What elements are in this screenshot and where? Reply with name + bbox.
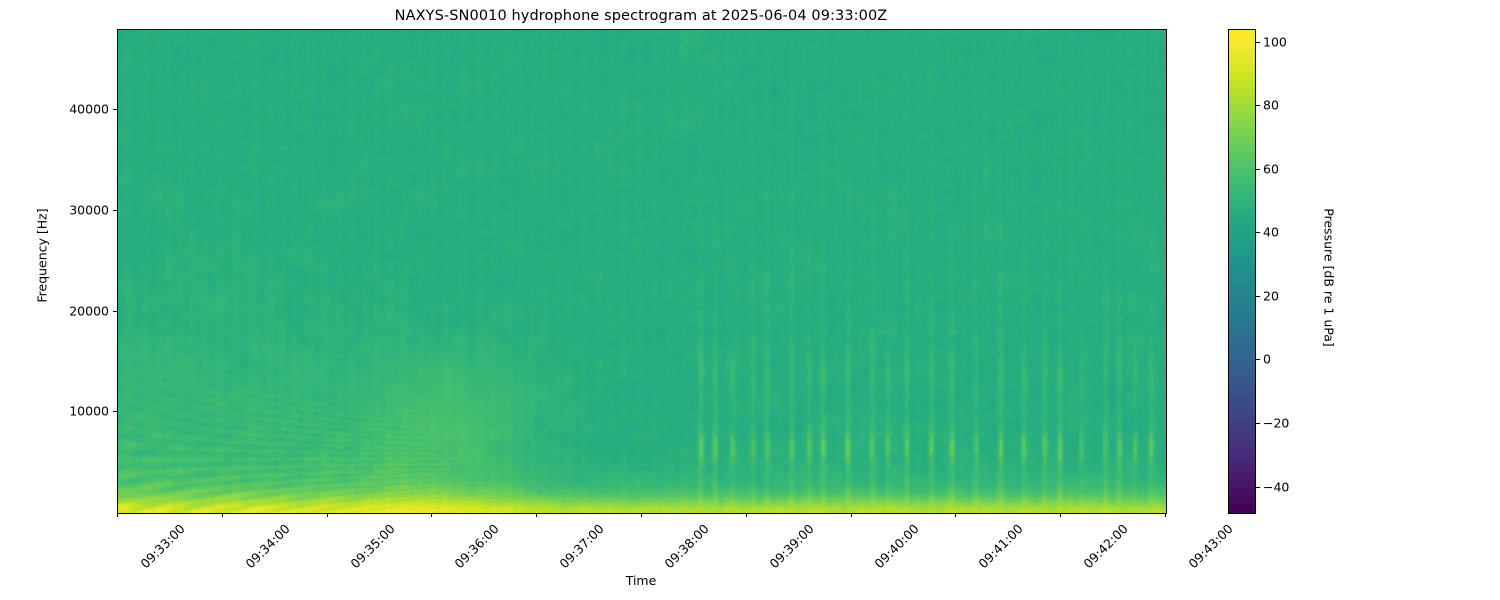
x-tick-label-10: 09:43:00 [1185,521,1235,571]
colorbar-tick-mark-0 [1256,487,1260,488]
x-tick-label-5: 09:38:00 [661,521,711,571]
figure-title: NAXYS-SN0010 hydrophone spectrogram at 2… [117,8,1165,24]
colorbar-label: Pressure [dB re 1 uPa] [1322,178,1337,378]
colorbar-tick-label-0: −40 [1263,480,1289,495]
colorbar-tick-label-3: 20 [1263,289,1279,304]
y-tick-mark-30000 [113,210,117,211]
x-tick-mark-1 [222,513,223,517]
x-tick-mark-0 [117,513,118,517]
x-tick-label-8: 09:41:00 [975,521,1025,571]
colorbar-tick-mark-7 [1256,42,1260,43]
x-tick-mark-6 [746,513,747,517]
x-tick-mark-2 [327,513,328,517]
x-tick-label-0: 09:33:00 [137,521,187,571]
x-tick-label-7: 09:40:00 [871,521,921,571]
colorbar-tick-mark-2 [1256,359,1260,360]
x-axis-label: Time [117,573,1165,588]
y-tick-label-20000: 20000 [69,304,109,319]
y-tick-label-40000: 40000 [69,102,109,117]
x-tick-mark-3 [431,513,432,517]
y-tick-mark-40000 [113,109,117,110]
colorbar-tick-label-1: −20 [1263,416,1289,431]
colorbar-tick-mark-3 [1256,296,1260,297]
y-tick-label-30000: 30000 [69,203,109,218]
colorbar-tick-label-2: 0 [1263,352,1271,367]
x-tick-mark-7 [851,513,852,517]
spectrogram-plot-area [117,29,1167,514]
x-tick-label-9: 09:42:00 [1080,521,1130,571]
y-tick-mark-10000 [113,411,117,412]
spectrogram-image [118,30,1166,513]
x-tick-mark-4 [536,513,537,517]
colorbar-gradient [1229,30,1255,513]
x-tick-label-1: 09:34:00 [242,521,292,571]
x-tick-label-2: 09:35:00 [347,521,397,571]
colorbar-tick-label-5: 60 [1263,162,1279,177]
y-tick-label-10000: 10000 [69,404,109,419]
y-tick-mark-20000 [113,311,117,312]
x-tick-mark-10 [1165,513,1166,517]
colorbar-tick-mark-4 [1256,232,1260,233]
y-axis-label: Frequency [Hz] [35,176,50,336]
colorbar-tick-label-6: 80 [1263,98,1279,113]
x-tick-mark-5 [641,513,642,517]
colorbar-tick-label-4: 40 [1263,225,1279,240]
colorbar-tick-mark-5 [1256,169,1260,170]
spectrogram-figure: NAXYS-SN0010 hydrophone spectrogram at 2… [0,0,1500,600]
colorbar-tick-label-7: 100 [1263,35,1287,50]
x-tick-label-6: 09:39:00 [766,521,816,571]
x-tick-mark-9 [1060,513,1061,517]
colorbar-tick-mark-6 [1256,105,1260,106]
colorbar [1228,29,1256,514]
x-tick-mark-8 [955,513,956,517]
colorbar-tick-mark-1 [1256,423,1260,424]
x-tick-label-4: 09:37:00 [556,521,606,571]
x-tick-label-3: 09:36:00 [451,521,501,571]
